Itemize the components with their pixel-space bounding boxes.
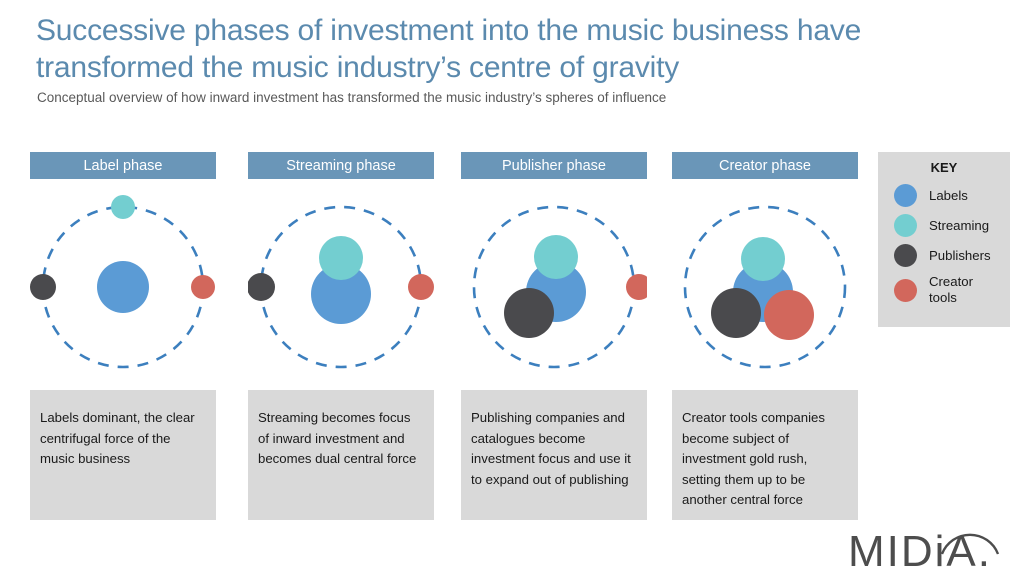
orbit-body-creator-tools [191, 275, 215, 299]
key-title: KEY [878, 160, 1010, 175]
key-item-publishers: Publishers [894, 244, 1010, 267]
phase-column-streaming: Streaming phase [248, 152, 434, 385]
page-subtitle: Conceptual overview of how inward invest… [37, 89, 897, 106]
orbit-body-streaming [741, 237, 785, 281]
phase-header-creator[interactable]: Creator phase [672, 152, 858, 179]
key-swatch-streaming-icon [894, 214, 917, 237]
phase-header-label[interactable]: Label phase [30, 152, 216, 179]
orbit-body-labels [97, 261, 149, 313]
phase-header-streaming[interactable]: Streaming phase [248, 152, 434, 179]
phase-column-publisher: Publisher phase [461, 152, 647, 385]
orbit-svg [672, 189, 858, 385]
orbit-body-creator-tools [408, 274, 434, 300]
key-swatch-publishers-icon [894, 244, 917, 267]
key-swatch-creator-tools-icon [894, 279, 917, 302]
key-label: Streaming [929, 218, 989, 234]
key-label: Publishers [929, 248, 991, 264]
orbit-body-creator-tools [626, 274, 647, 300]
orbit-body-creator-tools [764, 290, 814, 340]
key-item-streaming: Streaming [894, 214, 1010, 237]
orbit-diagram-creator [672, 189, 858, 385]
orbit-body-publishers [30, 274, 56, 300]
orbit-svg [461, 189, 647, 385]
orbit-body-publishers [504, 288, 554, 338]
key-swatch-labels-icon [894, 184, 917, 207]
orbit-svg [248, 189, 434, 385]
orbit-diagram-publisher [461, 189, 647, 385]
logo-wordmark: MIDiA. [848, 527, 992, 572]
orbit-body-publishers [248, 273, 275, 301]
phase-caption-creator: Creator tools companies become subject o… [672, 390, 858, 520]
phase-caption-label: Labels dominant, the clear centrifugal f… [30, 390, 216, 520]
orbit-body-streaming [534, 235, 578, 279]
midia-logo: MIDiA. [846, 524, 1016, 572]
key-item-labels: Labels [894, 184, 1010, 207]
orbit-body-streaming [319, 236, 363, 280]
phase-caption-publisher: Publishing companies and catalogues beco… [461, 390, 647, 520]
page-title: Successive phases of investment into the… [36, 12, 916, 86]
key-item-creator-tools: Creator tools [894, 274, 1010, 306]
phase-column-label: Label phase [30, 152, 216, 385]
key-label: Creator tools [929, 274, 973, 306]
orbit-body-publishers [711, 288, 761, 338]
orbit-diagram-label [30, 189, 216, 385]
key-legend-panel: KEY LabelsStreamingPublishersCreator too… [878, 152, 1010, 327]
midia-logo-mark: MIDiA. [846, 524, 1016, 572]
orbit-body-streaming [111, 195, 135, 219]
phase-column-creator: Creator phase [672, 152, 858, 385]
phase-caption-streaming: Streaming becomes focus of inward invest… [248, 390, 434, 520]
orbit-diagram-streaming [248, 189, 434, 385]
orbit-svg [30, 189, 216, 385]
key-label: Labels [929, 188, 968, 204]
phase-header-publisher[interactable]: Publisher phase [461, 152, 647, 179]
